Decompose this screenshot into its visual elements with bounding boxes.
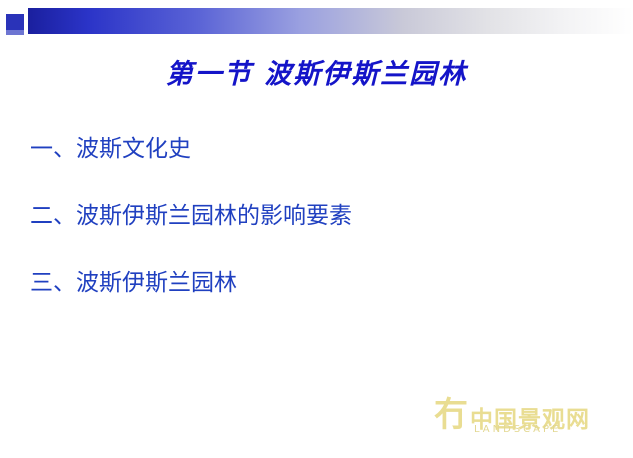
banner-gradient-bar <box>28 8 633 34</box>
slide-title: 第一节 波斯伊斯兰园林 <box>0 52 633 91</box>
watermark-logo-icon: 冇 <box>430 394 472 436</box>
banner-accent-square-secondary <box>6 30 24 35</box>
slide-canvas: 第一节 波斯伊斯兰园林 一、波斯文化史 二、波斯伊斯兰园林的影响要素 三、波斯伊… <box>0 0 633 458</box>
watermark: 冇 中国景观网 LANDSCAPE <box>430 392 630 440</box>
bullet-list: 一、波斯文化史 二、波斯伊斯兰园林的影响要素 三、波斯伊斯兰园林 <box>30 138 610 339</box>
bullet-item-1: 一、波斯文化史 <box>30 138 610 161</box>
top-banner <box>0 0 633 44</box>
bullet-item-3: 三、波斯伊斯兰园林 <box>30 272 610 295</box>
banner-accent-square <box>6 14 24 30</box>
watermark-subtext: LANDSCAPE <box>474 424 561 435</box>
bullet-item-2: 二、波斯伊斯兰园林的影响要素 <box>30 205 610 228</box>
